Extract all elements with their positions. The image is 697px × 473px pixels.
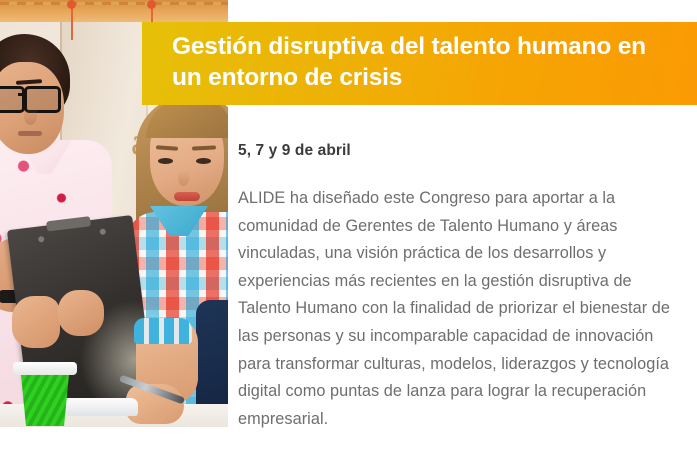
man-hand <box>12 296 60 348</box>
woman-nose <box>178 170 189 186</box>
woman-lips <box>174 192 200 201</box>
content-column: 5, 7 y 9 de abril ALIDE ha diseñado este… <box>238 118 670 433</box>
light-bulb <box>67 0 76 9</box>
light-bulb <box>147 0 156 9</box>
man-hand-holding-clipboard <box>58 290 104 336</box>
clipboard-rivet <box>99 228 106 235</box>
banner-title: Gestión disruptiva del talento humano en… <box>172 31 682 93</box>
woman-eye <box>196 158 211 164</box>
coffee-cup-lid <box>13 362 77 375</box>
woman-shirt-cuff <box>134 318 192 344</box>
event-dates: 5, 7 y 9 de abril <box>238 142 670 160</box>
title-banner: Gestión disruptiva del talento humano en… <box>142 22 697 105</box>
woman-eye <box>158 158 173 164</box>
man-nose <box>24 108 37 125</box>
eyeglasses-icon <box>0 86 62 107</box>
event-description: ALIDE ha diseñado este Congreso para apo… <box>238 185 670 433</box>
clipboard-rivet <box>38 236 45 243</box>
man-mouth <box>18 131 42 136</box>
green-coffee-cup <box>17 368 73 426</box>
